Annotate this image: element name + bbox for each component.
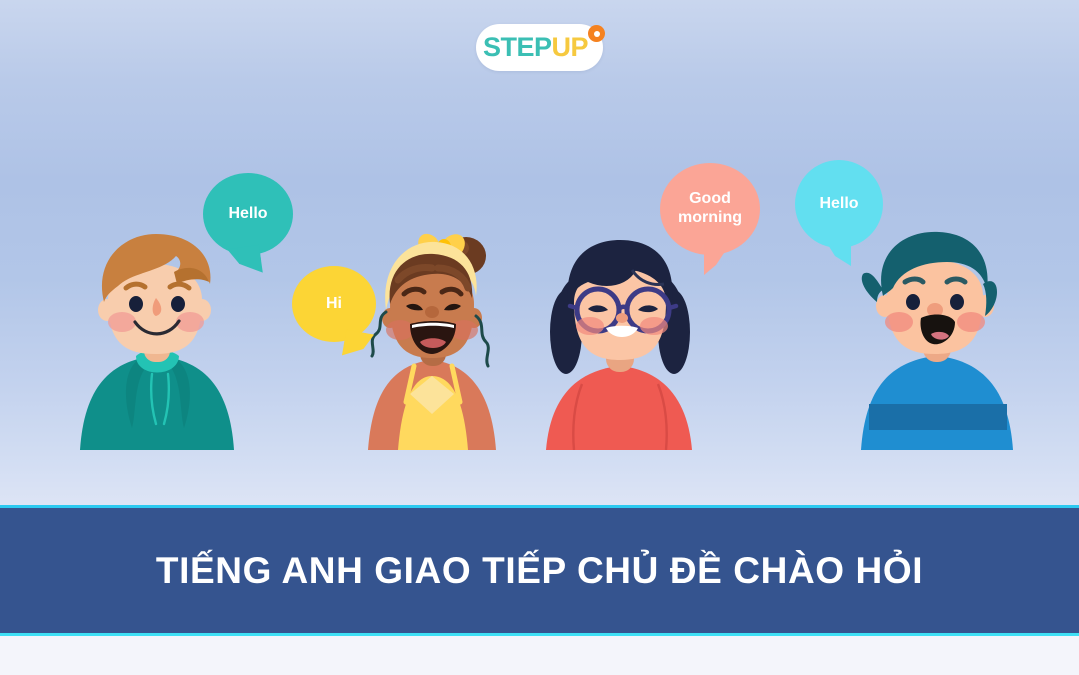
bubble-hi: Hi — [292, 266, 376, 342]
orange-dot-icon — [588, 25, 605, 42]
bubble-hi-text: Hi — [326, 295, 342, 313]
bubble-tail — [227, 245, 263, 277]
bubble-good-morning-text: Good morning — [678, 190, 742, 228]
logo-up-text: UP — [552, 32, 589, 62]
character-girl-yellow — [362, 224, 502, 450]
stepup-logo[interactable]: STEPUP — [476, 24, 603, 71]
character-boy-teal — [78, 228, 238, 450]
stepup-logo-wordmark: STEPUP — [483, 34, 588, 61]
character-boy-blue — [855, 226, 1020, 450]
bubble-hello-2-text: Hello — [819, 195, 858, 213]
logo-step-text: STEP — [483, 32, 552, 62]
page-title: TIẾNG ANH GIAO TIẾP CHỦ ĐỀ CHÀO HỎI — [156, 550, 923, 592]
footer-strip — [0, 636, 1079, 675]
bubble-good-morning-line2: morning — [678, 209, 742, 226]
bubble-tail — [342, 330, 374, 360]
bubble-hello-2: Hello — [795, 160, 883, 248]
bubble-good-morning-line1: Good — [689, 190, 731, 207]
bubble-hello-1-text: Hello — [228, 205, 267, 223]
bubble-tail — [704, 247, 728, 275]
bubble-tail — [825, 240, 851, 266]
title-banner: TIẾNG ANH GIAO TIẾP CHỦ ĐỀ CHÀO HỎI — [0, 505, 1079, 636]
scene-background: Hello Hi Good morning Hello STEPUP — [0, 0, 1079, 505]
poster-canvas: Hello Hi Good morning Hello STEPUP TIẾ — [0, 0, 1079, 675]
bubble-good-morning: Good morning — [660, 163, 760, 255]
bubble-hello-1: Hello — [203, 173, 293, 255]
character-girl-glasses — [540, 224, 700, 450]
